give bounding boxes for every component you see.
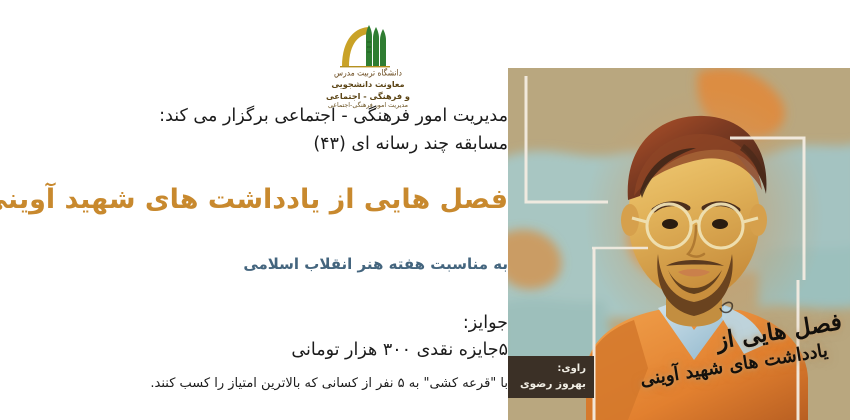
- narrator-name: بهروز رضوی: [516, 377, 586, 391]
- university-logo-block: دانشگاه تربیت مدرس معاونت دانشجویی و فره…: [312, 22, 424, 109]
- prizes-footnote: با "قرعه کشی" به ۵ نفر از کسانی که بالات…: [18, 376, 508, 391]
- logo-university-name: دانشگاه تربیت مدرس: [312, 68, 424, 77]
- page-subtitle: به مناسبت هفته هنر انقلاب اسلامی: [18, 255, 508, 273]
- text-panel: دانشگاه تربیت مدرس معاونت دانشجویی و فره…: [0, 0, 508, 420]
- poster-artwork: فصل هایی از یادداشت های شهید آوینی راوی:…: [508, 68, 850, 420]
- narrator-credit-box: راوی: بهروز رضوی: [508, 356, 594, 398]
- poster-announcement: دانشگاه تربیت مدرس معاونت دانشجویی و فره…: [0, 0, 850, 420]
- page-title: فصل هایی از یادداشت های شهید آوینی: [10, 183, 508, 217]
- prizes-detail: ۵جایزه نقدی ۳۰۰ هزار تومانی: [36, 337, 508, 364]
- prizes-heading: جوایز:: [36, 310, 508, 337]
- university-emblem-icon: [312, 22, 424, 68]
- logo-deputy-line-1: معاونت دانشجویی: [312, 79, 424, 89]
- lead-line-contest: مسابقه چند رسانه ای (۴۳): [36, 130, 508, 158]
- lead-line-organizer: مدیریت امور فرهنگی - اجتماعی برگزار می ک…: [36, 102, 508, 130]
- prizes-block: جوایز: ۵جایزه نقدی ۳۰۰ هزار تومانی: [18, 310, 508, 364]
- lead-text: مدیریت امور فرهنگی - اجتماعی برگزار می ک…: [18, 102, 508, 159]
- narrator-label: راوی:: [516, 362, 586, 376]
- logo-deputy-line-2: و فرهنگی - اجتماعی: [312, 91, 424, 101]
